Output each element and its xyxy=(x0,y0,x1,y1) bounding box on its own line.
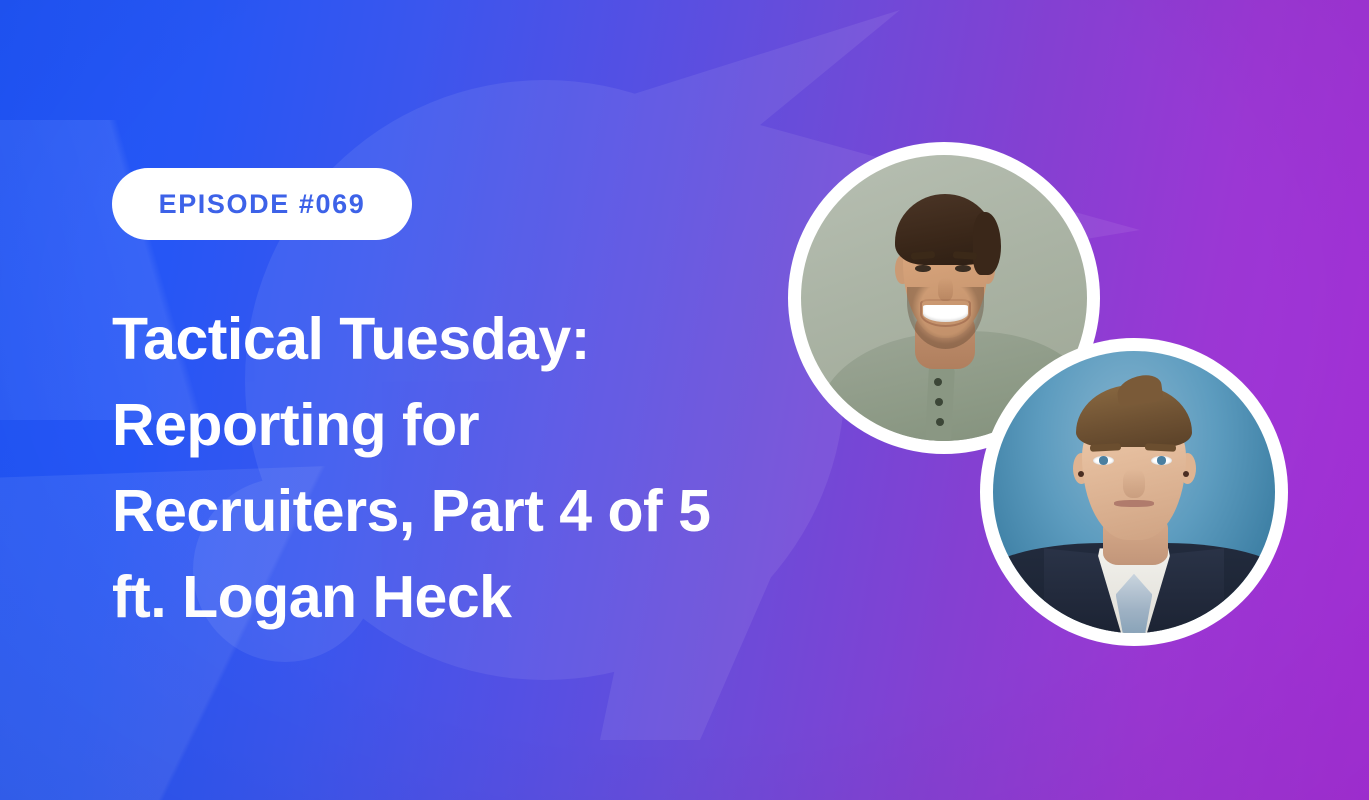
episode-badge-label: EPISODE #069 xyxy=(159,191,366,218)
title-line-3: Recruiters, Part 4 of 5 xyxy=(112,468,842,554)
page-title: Tactical Tuesday: Reporting for Recruite… xyxy=(112,296,842,640)
guest-photo-2 xyxy=(993,351,1275,633)
title-line-4: ft. Logan Heck xyxy=(112,554,842,640)
episode-badge: EPISODE #069 xyxy=(112,168,412,240)
guest-photo-2-image xyxy=(993,351,1275,633)
title-line-2: Reporting for xyxy=(112,382,842,468)
guest-avatar-2 xyxy=(980,338,1288,646)
episode-cover-card: EPISODE #069 Tactical Tuesday: Reporting… xyxy=(0,0,1369,800)
title-line-1: Tactical Tuesday: xyxy=(112,296,842,382)
text-column: EPISODE #069 Tactical Tuesday: Reporting… xyxy=(112,0,832,800)
